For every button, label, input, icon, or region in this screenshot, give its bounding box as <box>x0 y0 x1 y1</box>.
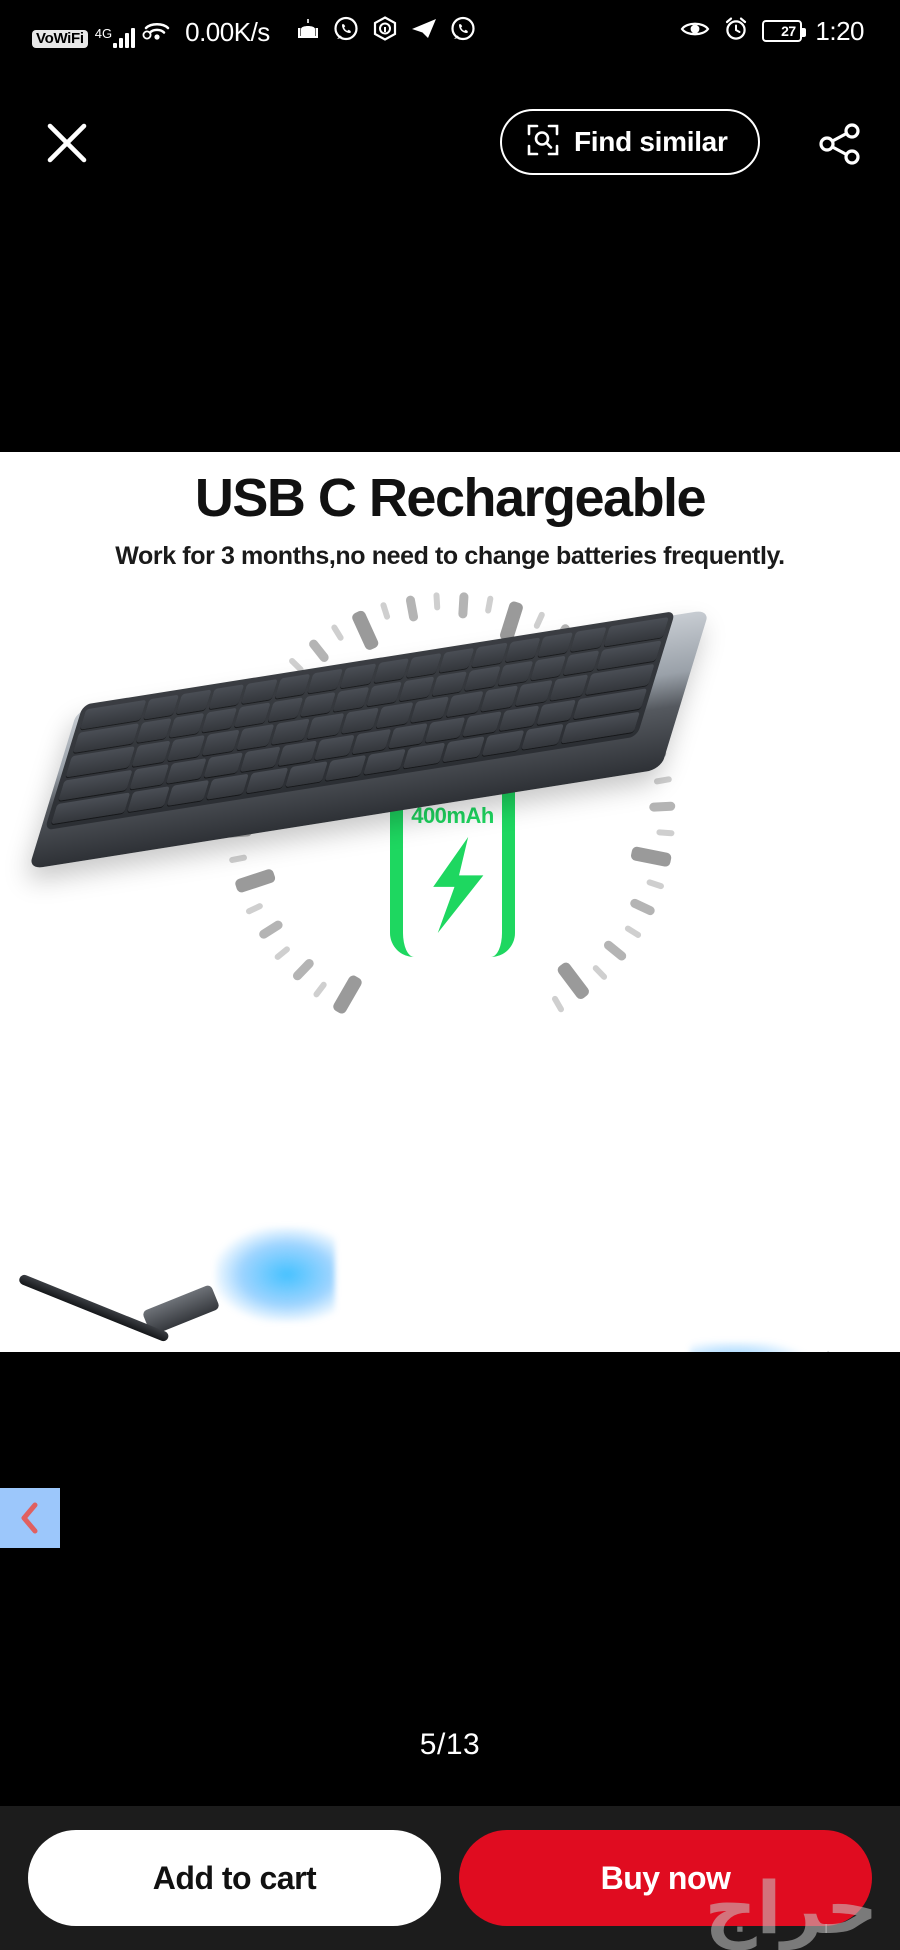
add-to-cart-button[interactable]: Add to cart <box>28 1830 441 1926</box>
status-bar: VoWiFi 4G 0.00K/s <box>0 0 900 62</box>
telegram-icon <box>410 16 438 47</box>
back-navigation-tab[interactable] <box>0 1488 60 1548</box>
usb-dongle-glow <box>690 1342 820 1352</box>
share-button[interactable] <box>808 112 872 176</box>
find-similar-label: Find similar <box>574 126 728 158</box>
dongle-body <box>787 1351 840 1352</box>
product-headline: USB C Rechargeable <box>0 467 900 529</box>
usb-c-cable <box>8 1297 218 1352</box>
signal-bars-icon <box>113 26 135 48</box>
battery-level-label: 27 <box>781 23 796 39</box>
cellular-signal: 4G <box>95 26 135 48</box>
product-subheadline: Work for 3 months,no need to change batt… <box>0 542 900 571</box>
network-generation-label: 4G <box>95 28 112 39</box>
whatsapp-icon <box>449 15 477 48</box>
usb-c-wire <box>18 1273 170 1342</box>
chevron-left-icon <box>17 1501 43 1535</box>
vowifi-badge: VoWiFi <box>32 30 88 48</box>
whatsapp-icon <box>332 15 360 48</box>
notification-icons <box>295 15 477 48</box>
clock-label: 1:20 <box>815 16 864 47</box>
wifi-icon <box>142 18 172 47</box>
alarm-clock-icon <box>723 16 749 47</box>
bottom-action-bar: Add to cart Buy now حراج <box>0 1806 900 1950</box>
buy-now-button[interactable]: Buy now <box>459 1830 872 1926</box>
security-hexagon-icon <box>371 15 399 48</box>
product-image-slide[interactable]: USB C Rechargeable Work for 3 months,no … <box>0 452 900 1352</box>
page-indicator: 5/13 <box>0 1728 900 1762</box>
usb-c-port-glow <box>215 1227 335 1322</box>
close-icon <box>44 120 90 166</box>
close-button[interactable] <box>36 112 98 174</box>
top-action-bar: Find similar <box>0 100 900 190</box>
network-speed-label: 0.00K/s <box>185 17 270 48</box>
scan-search-icon <box>526 123 560 162</box>
mosque-prayer-icon <box>295 16 321 47</box>
status-bar-left: VoWiFi 4G 0.00K/s <box>32 15 477 48</box>
find-similar-button[interactable]: Find similar <box>500 109 760 175</box>
share-icon <box>816 120 864 168</box>
eye-comfort-icon <box>680 18 710 45</box>
status-bar-right: 27 1:20 <box>680 16 864 47</box>
battery-icon: 27 <box>762 20 802 42</box>
